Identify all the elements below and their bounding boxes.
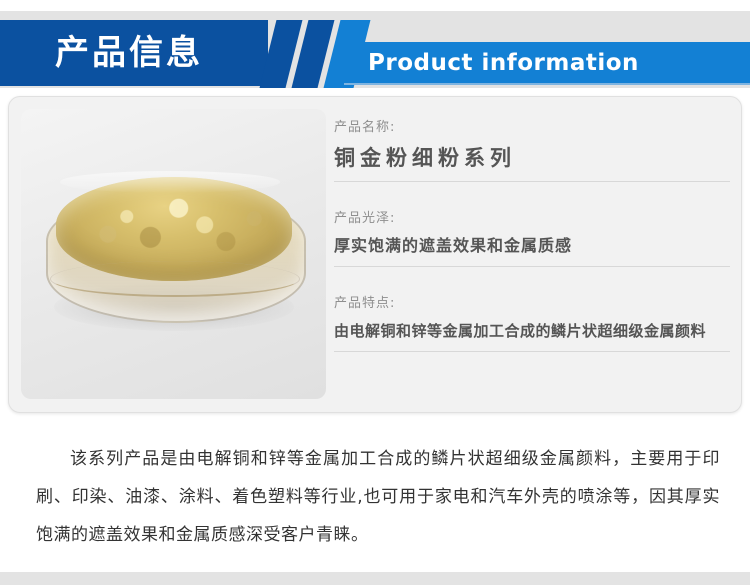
header-light-band-shadow (344, 83, 750, 85)
dish-rim-line (50, 261, 300, 297)
top-gray-strip (0, 11, 750, 20)
spec-row-gloss: 产品光泽: 厚实饱满的遮盖效果和金属质感 (334, 206, 730, 267)
bottom-gray-strip (0, 572, 750, 585)
petri-dish-gold-powder-icon (40, 165, 308, 355)
product-info-card: 产品名称: 铜金粉细粉系列 产品光泽: 厚实饱满的遮盖效果和金属质感 产品特点:… (8, 96, 742, 413)
top-white-strip (0, 0, 750, 11)
product-description-paragraph: 该系列产品是由电解铜和锌等金属加工合成的鳞片状超细级金属颜料，主要用于印刷、印染… (36, 440, 720, 554)
section-header-banner: 产品信息 Product information (0, 20, 750, 88)
dish-gloss-highlight (60, 171, 280, 193)
product-information-page: 产品信息 Product information 产品名称: 铜金粉细粉系列 (0, 0, 750, 585)
spec-label-name: 产品名称: (334, 115, 730, 141)
header-title-chinese: 产品信息 (55, 28, 203, 78)
spec-value-name: 铜金粉细粉系列 (334, 141, 730, 182)
product-photo-panel[interactable] (21, 109, 326, 399)
product-photo-background (21, 109, 326, 399)
product-spec-list: 产品名称: 铜金粉细粉系列 产品光泽: 厚实饱满的遮盖效果和金属质感 产品特点:… (334, 115, 730, 360)
spec-label-gloss: 产品光泽: (334, 206, 730, 232)
header-title-english: Product information (368, 47, 639, 79)
spec-label-feature: 产品特点: (334, 291, 730, 317)
spec-row-name: 产品名称: 铜金粉细粉系列 (334, 115, 730, 182)
spec-row-feature: 产品特点: 由电解铜和锌等金属加工合成的鳞片状超细级金属颜料 (334, 291, 730, 352)
spec-value-gloss: 厚实饱满的遮盖效果和金属质感 (334, 232, 730, 267)
spec-value-feature: 由电解铜和锌等金属加工合成的鳞片状超细级金属颜料 (334, 317, 730, 352)
